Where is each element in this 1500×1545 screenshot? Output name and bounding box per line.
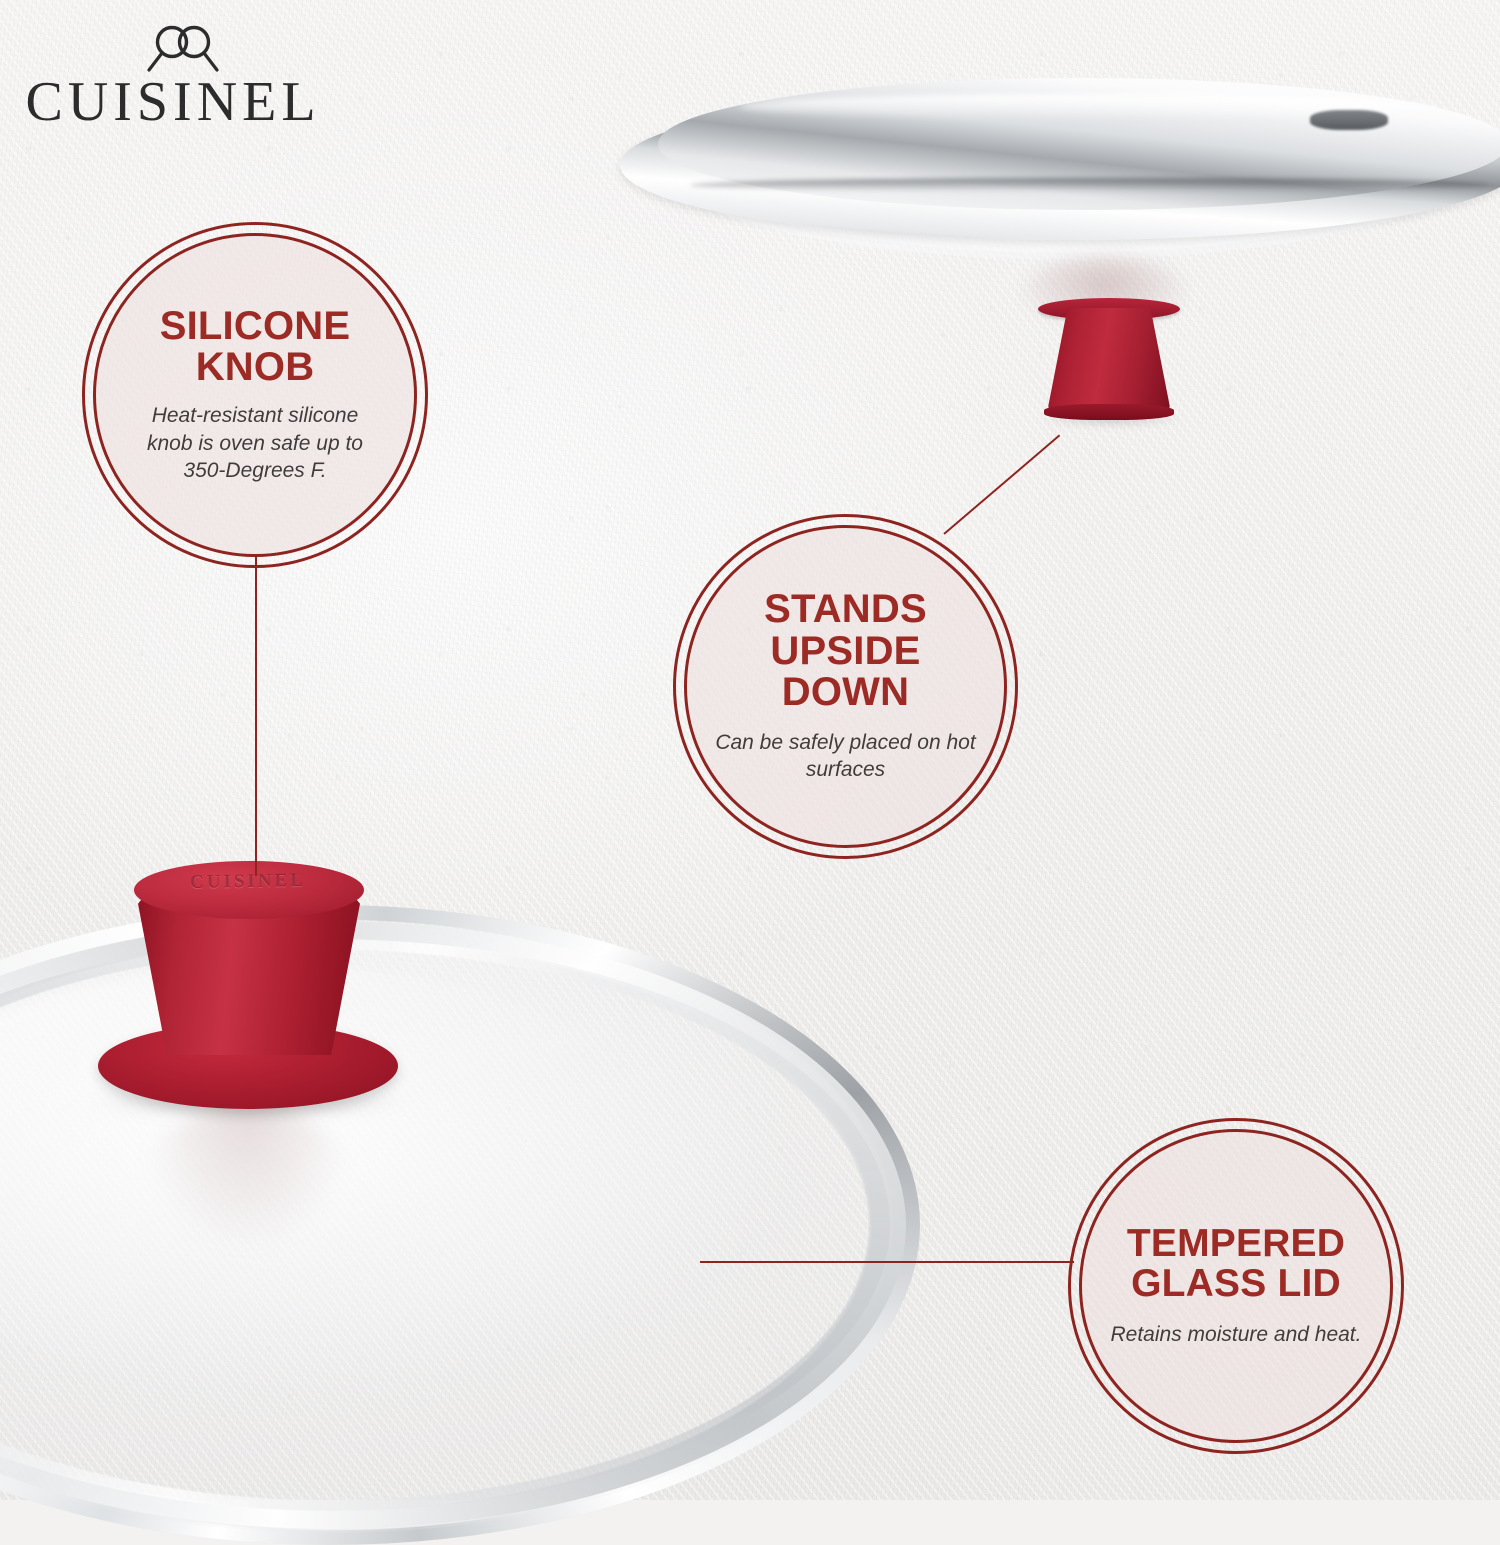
inverted-knob-foot: [1044, 404, 1174, 420]
callout-silicone-knob: SILICONE KNOB Heat-resistant silicone kn…: [82, 222, 428, 568]
callout-body: Retains moisture and heat.: [1111, 1321, 1362, 1348]
knob-embossed-brand: CUISINEL: [160, 869, 336, 894]
product-lid-main: CUISINEL: [0, 905, 920, 1545]
callout-title: TEMPERED GLASS LID: [1127, 1224, 1345, 1304]
inverted-silicone-knob: [1048, 308, 1170, 416]
callout-title-line1: TEMPERED: [1127, 1222, 1345, 1265]
callout-title-line1: SILICONE: [160, 304, 351, 348]
leader-line-silicone-knob: [255, 556, 257, 876]
interlocking-pans-icon: [138, 22, 228, 74]
callout-stands-upside-down: STANDS UPSIDE DOWN Can be safely placed …: [673, 514, 1018, 859]
inverted-rim-shadow: [690, 178, 1490, 192]
callout-body: Heat-resistant silicone knob is oven saf…: [127, 402, 383, 484]
callout-title-line2: UPSIDE DOWN: [770, 629, 920, 714]
product-lid-upside-down: [620, 60, 1500, 440]
brand-wordmark: CUISINEL: [18, 70, 328, 134]
callout-title-line1: STANDS: [764, 587, 927, 631]
callout-title: SILICONE KNOB: [160, 306, 351, 388]
callout-tempered-glass-lid: TEMPERED GLASS LID Retains moisture and …: [1068, 1118, 1404, 1454]
steam-vent-icon: [1310, 110, 1388, 130]
callout-title-line2: KNOB: [196, 345, 315, 389]
leader-line-tempered-glass-lid: [700, 1261, 1074, 1263]
brand-logo: CUISINEL: [18, 22, 328, 142]
callout-title: STANDS UPSIDE DOWN: [706, 589, 985, 713]
callout-title-line2: GLASS LID: [1131, 1262, 1341, 1305]
callout-body: Can be safely placed on hot surfaces: [706, 729, 985, 784]
